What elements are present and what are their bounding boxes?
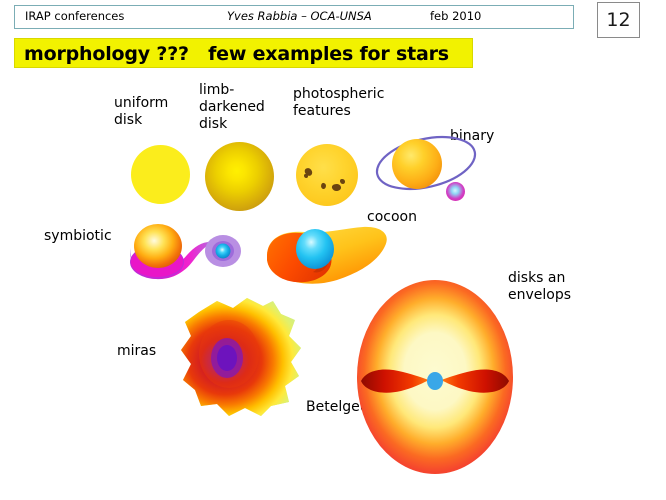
header-bar: IRAP conferences Yves Rabbia – OCA-UNSA … [14, 5, 574, 29]
cocoon-core-star [296, 229, 334, 269]
photosphere-spot [304, 174, 308, 178]
page-number-box: 12 [597, 2, 640, 38]
miras-figure [177, 292, 311, 418]
header-conference-name: IRAP conferences [25, 9, 124, 23]
header-author: Yves Rabbia – OCA-UNSA [227, 9, 372, 23]
photosphere-spot [320, 182, 326, 189]
slide-title-banner: morphology ??? few examples for stars [14, 38, 473, 68]
disks-and-envelopes-figure [355, 277, 515, 477]
header-date: feb 2010 [430, 9, 481, 23]
photosphere-spot [331, 183, 341, 191]
page-number: 12 [598, 9, 639, 31]
label-disks-and-envelopes: disks an envelops [508, 270, 571, 304]
symbiotic-primary-star [134, 224, 182, 268]
binary-secondary-star [446, 182, 465, 201]
label-uniform-disk: uniform disk [114, 95, 168, 129]
label-symbiotic: symbiotic [44, 228, 112, 245]
binary-primary-star [392, 139, 442, 189]
page-title: morphology ??? few examples for stars [24, 43, 449, 65]
label-miras: miras [117, 343, 156, 360]
symbiotic-figure [127, 222, 247, 280]
central-star-core [427, 372, 443, 390]
uniform-disk-figure [131, 145, 190, 204]
photospheric-features-figure [296, 144, 358, 206]
label-limb-darkened-disk: limb- darkened disk [199, 82, 265, 133]
photosphere-spot [340, 179, 345, 184]
label-photospheric-features: photospheric features [293, 86, 384, 120]
miras-intensity-map [163, 292, 311, 424]
limb-darkened-disk-figure [205, 142, 274, 211]
symbiotic-companion-star [216, 244, 231, 259]
